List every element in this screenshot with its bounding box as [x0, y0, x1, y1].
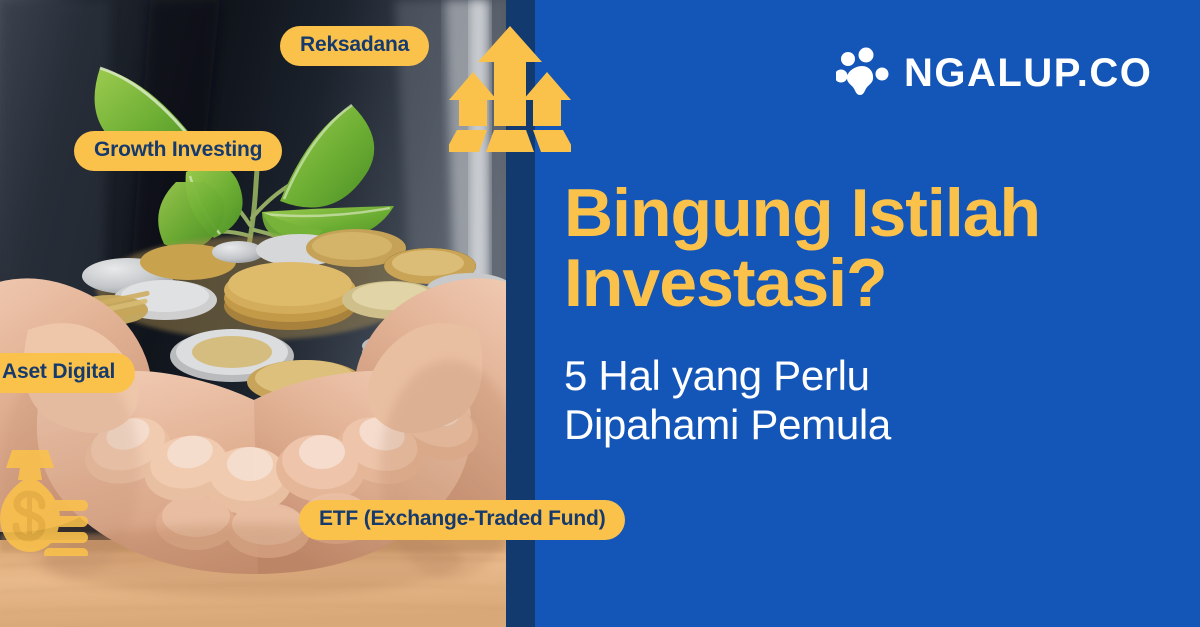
logo-wordmark: NGALUP.CO: [904, 53, 1152, 93]
subheadline-line-1: 5 Hal yang Perlu: [564, 352, 1164, 401]
subheadline-line-2: Dipahami Pemula: [564, 401, 1164, 450]
investment-banner: NGALUP.CO Bingung Istilah Investasi? 5 H…: [0, 0, 1200, 627]
brand-logo[interactable]: NGALUP.CO: [836, 46, 1152, 100]
tag-growth-investing: Growth Investing: [74, 131, 282, 171]
money-bag-coins-icon: [0, 446, 106, 556]
page-title: Bingung Istilah Investasi?: [564, 178, 1164, 318]
upward-arrows-icon: [449, 24, 571, 154]
tag-etf: ETF (Exchange-Traded Fund): [299, 500, 625, 540]
headline-line-1: Bingung Istilah: [564, 178, 1164, 248]
page-subtitle: 5 Hal yang Perlu Dipahami Pemula: [564, 352, 1164, 449]
tag-aset-digital: Aset Digital: [0, 353, 135, 393]
headline-line-2: Investasi?: [564, 248, 1164, 318]
tag-reksadana: Reksadana: [280, 26, 429, 66]
paw-print-icon: [836, 46, 890, 100]
